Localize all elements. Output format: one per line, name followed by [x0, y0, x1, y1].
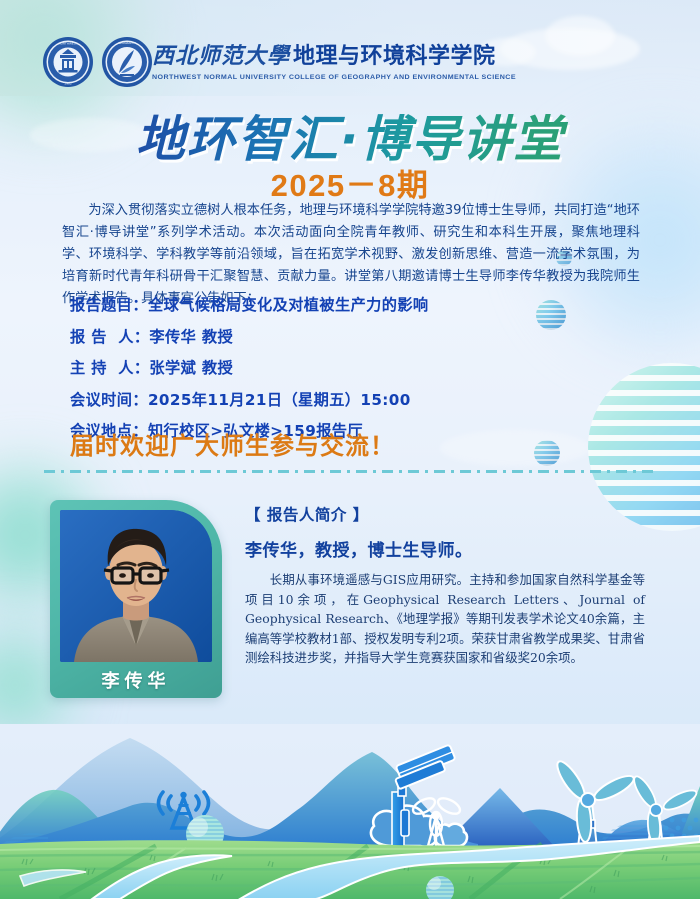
university-name-cn: 西北师范大學 — [152, 38, 290, 70]
poster-canvas: NORTHWEST 1902 GEOGRAPHY 西北师范大學 — [0, 0, 700, 899]
logo-group: NORTHWEST 1902 GEOGRAPHY — [42, 36, 153, 88]
bio-text: 长期从事环境遥感与GIS应用研究。主持和参加国家自然科学基金等项目10余项，在G… — [245, 570, 645, 668]
school-name-en: NORTHWEST NORMAL UNIVERSITY COLLEGE OF G… — [152, 73, 516, 81]
svg-text:GEOGRAPHY: GEOGRAPHY — [118, 41, 136, 45]
info-row-speaker: 报 告 人： 李传华 教授 — [70, 325, 610, 347]
bottom-landscape-scene — [0, 724, 700, 899]
issue-number: 2025－8期 — [0, 160, 700, 205]
info-value: 李传华 教授 — [149, 325, 233, 347]
info-label: 主 持 人： — [70, 356, 149, 378]
info-value: 2025年11月21日（星期五）15:00 — [148, 388, 411, 410]
speaker-photo-card: 李传华 — [50, 500, 222, 698]
college-name-cn: 地理与环境科学学院 — [293, 38, 496, 70]
nwnu-seal-emblem-icon: NORTHWEST 1902 — [42, 36, 94, 88]
college-seal-emblem-icon: GEOGRAPHY — [101, 36, 153, 88]
svg-text:NORTHWEST: NORTHWEST — [58, 41, 77, 45]
info-row-time: 会议时间： 2025年11月21日（星期五）15:00 — [70, 388, 610, 410]
info-value: 张学斌 教授 — [149, 356, 233, 378]
svg-text:1902: 1902 — [64, 82, 72, 86]
bio-heading: 【 报告人简介 】 — [245, 503, 645, 525]
school-name-block: 西北师范大學 地理与环境科学学院 NORTHWEST NORMAL UNIVER… — [152, 38, 516, 81]
speaker-photo-name: 李传华 — [60, 667, 212, 693]
info-row-host: 主 持 人： 张学斌 教授 — [70, 356, 610, 378]
info-value: 全球气候格局变化及对植被生产力的影响 — [148, 293, 429, 315]
info-label: 会议时间： — [70, 388, 148, 410]
section-divider — [44, 470, 656, 473]
info-row-topic: 报告题目： 全球气候格局变化及对植被生产力的影响 — [70, 293, 610, 315]
info-label: 报 告 人： — [70, 325, 149, 347]
info-label: 报告题目： — [70, 293, 148, 315]
speaker-bio-block: 【 报告人简介 】 李传华，教授，博士生导师。 长期从事环境遥感与GIS应用研究… — [245, 503, 645, 668]
bio-name: 李传华，教授，博士生导师。 — [245, 536, 645, 561]
welcome-message: 届时欢迎广大师生参与交流！ — [70, 426, 395, 461]
speaker-photo — [60, 510, 212, 662]
